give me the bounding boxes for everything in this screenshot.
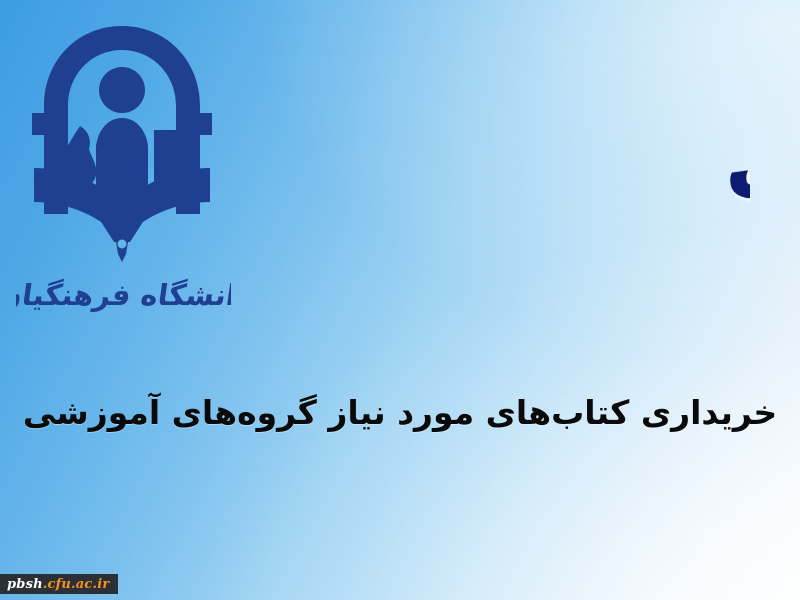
- watermark-prefix: pbsh: [7, 578, 43, 591]
- university-wordmark: دانشگاه فرهنگیان: [16, 261, 231, 323]
- headline-text: اطلاعیه پژوهشی: [713, 48, 750, 213]
- university-logo: دانشگاه فرهنگیان: [16, 18, 231, 318]
- headline-artwork: اطلاعیه پژوهشی: [330, 48, 750, 313]
- subject-line: خریداری کتاب‌های مورد نیاز گروه‌های آموز…: [0, 382, 800, 444]
- announcement-poster: دانشگاه فرهنگیان اطلاعیه پژوهشی خریداری …: [0, 0, 800, 600]
- watermark-domain: .cfu.ac.ir: [43, 578, 110, 591]
- farhangian-university-emblem-icon: [22, 18, 222, 268]
- university-wordmark-text: دانشگاه فرهنگیان: [16, 278, 231, 312]
- headline: اطلاعیه پژوهشی: [330, 48, 750, 313]
- subject-text: خریداری کتاب‌های مورد نیاز گروه‌های آموز…: [23, 392, 777, 433]
- source-watermark: pbsh .cfu.ac.ir: [0, 574, 118, 594]
